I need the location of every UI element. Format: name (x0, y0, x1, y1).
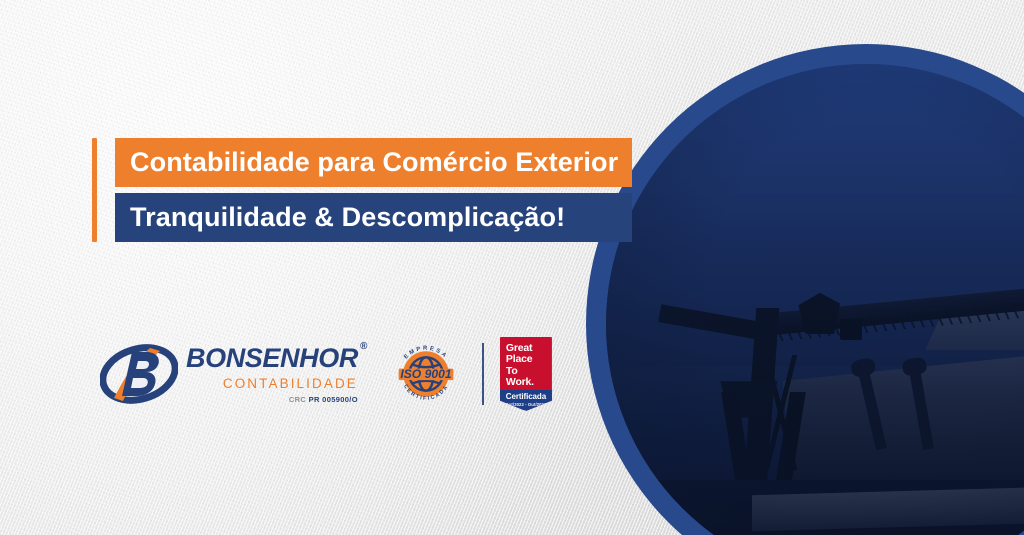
brand-name: BONSENHOR ® (186, 345, 358, 372)
headline-secondary-bar: Tranquilidade & Descomplicação! (115, 193, 632, 242)
brand-credentials-row: BONSENHOR ® CONTABILIDADE CRC PR 005900/… (100, 336, 552, 412)
headline-primary-text: Contabilidade para Comércio Exterior (130, 149, 618, 176)
brand-tagline: CONTABILIDADE (223, 377, 358, 391)
headline-accent-bar (92, 138, 97, 242)
gptw-line-4: Work. (506, 377, 552, 388)
gptw-validity-dates: Out/2022 - Out/2023 (500, 402, 552, 408)
crc-label: CRC (289, 395, 306, 404)
gptw-country-label: BRASIL (500, 408, 552, 411)
bonsenhor-logo-icon (100, 338, 178, 410)
headline-bars: Contabilidade para Comércio Exterior Tra… (115, 138, 632, 242)
photo-vignette (606, 64, 1024, 535)
crc-value: PR 005900/O (309, 395, 358, 404)
brand-name-text: BONSENHOR (186, 343, 358, 373)
gptw-title: Great Place To Work. (500, 337, 552, 390)
registered-trademark-icon: ® (360, 342, 367, 352)
iso-center-label: ISO 9001 (400, 367, 452, 381)
port-terminal-photo (606, 64, 1024, 535)
headline-secondary-text: Tranquilidade & Descomplicação! (130, 204, 565, 231)
great-place-to-work-badge: Great Place To Work. Certificada Out/202… (500, 337, 552, 411)
headline-block: Contabilidade para Comércio Exterior Tra… (92, 138, 632, 242)
marketing-banner: Contabilidade para Comércio Exterior Tra… (0, 0, 1024, 535)
badge-divider (482, 343, 484, 405)
gptw-line-2: Place (506, 354, 552, 365)
crc-registration: CRC PR 005900/O (289, 396, 358, 404)
bonsenhor-wordmark: BONSENHOR ® CONTABILIDADE CRC PR 005900/… (186, 345, 358, 404)
gptw-certification-block: Certificada Out/2022 - Out/2023 BRASIL (500, 390, 552, 411)
headline-primary-bar: Contabilidade para Comércio Exterior (115, 138, 632, 187)
gptw-certified-label: Certificada (500, 393, 552, 402)
port-photo-medallion (606, 64, 1024, 535)
iso-9001-seal-icon: ISO 9001 EMPRESA CERTIFICADA (388, 336, 464, 412)
